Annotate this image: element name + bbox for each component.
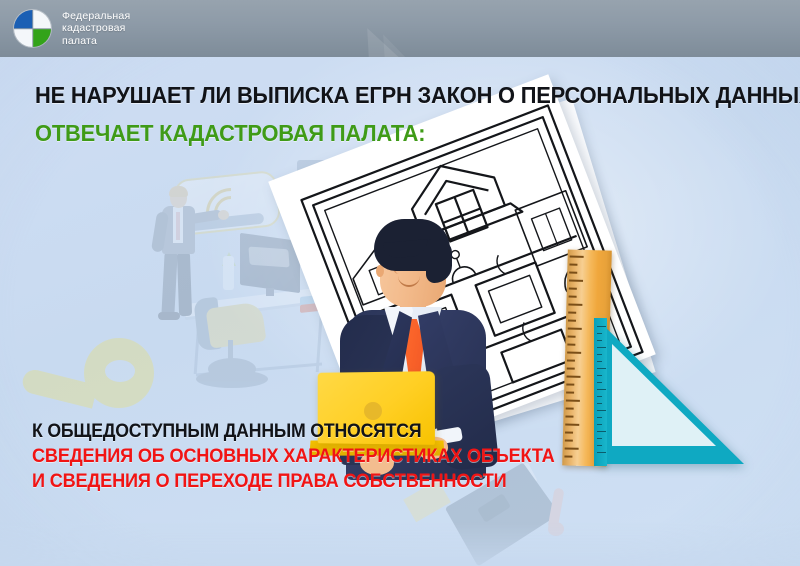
teal-set-square-icon — [596, 318, 756, 468]
bottom-item-line-1: СВЕДЕНИЯ ОБ ОСНОВНЫХ ХАРАКТЕРИСТИКАХ ОБЪ… — [32, 444, 516, 469]
kadastr-quadrant-logo-icon — [14, 10, 51, 47]
bottom-intro-line: К ОБЩЕДОСТУПНЫМ ДАННЫМ ОТНОСЯТСЯ — [32, 420, 516, 444]
org-name: Федеральная кадастровая палата — [62, 10, 130, 48]
org-name-line3: палата — [62, 35, 130, 48]
org-name-line1: Федеральная — [62, 10, 130, 23]
headline-answer: ОТВЕЧАЕТ КАДАСТРОВАЯ ПАЛАТА: — [35, 120, 723, 146]
bottom-fade-strip — [0, 522, 800, 566]
bottom-item-line-2: И СВЕДЕНИЯ О ПЕРЕХОДЕ ПРАВА СОБСТВЕННОСТ… — [32, 469, 516, 494]
headline-question: НЕ НАРУШАЕТ ЛИ ВЫПИСКА ЕГРН ЗАКОН О ПЕРС… — [35, 82, 723, 108]
brand-header-bar: Федеральная кадастровая палата — [0, 0, 800, 57]
org-name-line2: кадастровая — [62, 22, 130, 35]
infographic-poster: Федеральная кадастровая палата НЕ НАРУША… — [0, 0, 800, 566]
bottom-text-block: К ОБЩЕДОСТУПНЫМ ДАННЫМ ОТНОСЯТСЯ СВЕДЕНИ… — [32, 420, 552, 494]
